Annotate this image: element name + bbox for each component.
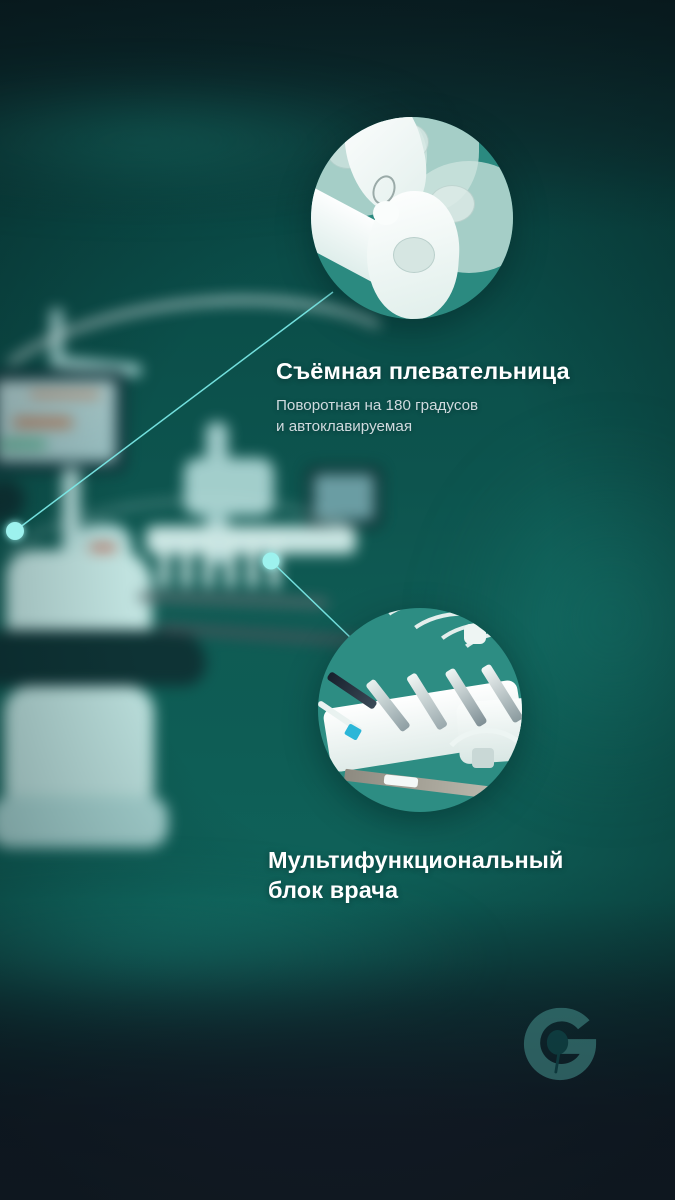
callout-text-spittoon: Съёмная плевательница Поворотная на 180 … (276, 357, 570, 438)
callout-title-doctor-unit: Мультифункциональный блок врача (268, 846, 563, 905)
logo-mirror-head (547, 1030, 568, 1055)
callout-subtitle-line-2: и автоклавируемая (276, 416, 570, 438)
spittoon-pivot-knob (373, 201, 399, 225)
callout-text-doctor-unit: Мультифункциональный блок врача (268, 846, 563, 905)
callout-title-spittoon: Съёмная плевательница (276, 357, 570, 386)
callout-title-line-1: Мультифункциональный (268, 846, 563, 876)
hose-clip (464, 624, 486, 644)
infographic-canvas: Съёмная плевательница Поворотная на 180 … (0, 0, 675, 1200)
callout-image-doctor-unit (318, 608, 522, 812)
spittoon-drain-front (393, 237, 435, 273)
callout-title-line-2: блок врача (268, 876, 563, 906)
brand-logo-g-icon (519, 1003, 601, 1085)
callout-subtitle-spittoon: Поворотная на 180 градусов и автоклавиру… (276, 395, 570, 438)
callout-image-spittoon (311, 117, 513, 319)
callout-subtitle-line-1: Поворотная на 180 градусов (276, 395, 570, 417)
